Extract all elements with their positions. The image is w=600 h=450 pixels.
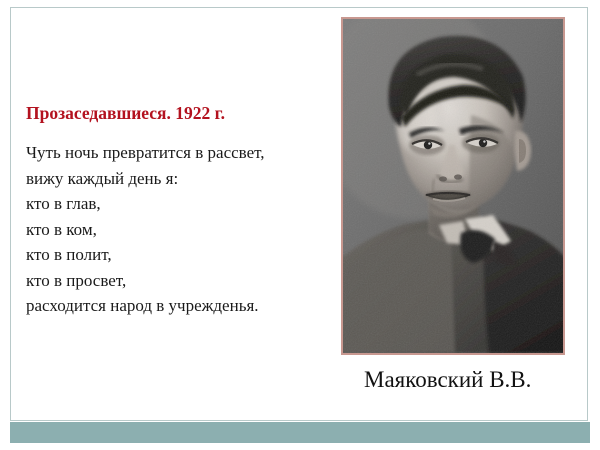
- portrait-photo-image: [343, 19, 563, 353]
- poem-line: кто в просвет,: [26, 268, 331, 294]
- bottom-accent-bar: [10, 422, 590, 443]
- poem-line: кто в ком,: [26, 217, 331, 243]
- poem-line: расходится народ в учрежденья.: [26, 293, 331, 319]
- poem-line: Чуть ночь превратится в рассвет,: [26, 140, 331, 166]
- poem-line: кто в глав,: [26, 191, 331, 217]
- poem-body: Чуть ночь превратится в рассвет, вижу ка…: [26, 140, 331, 319]
- poem-title: Прозаседавшиеся. 1922 г.: [26, 104, 331, 123]
- author-attribution: Маяковский В.В.: [364, 367, 531, 392]
- poem-line: вижу каждый день я:: [26, 166, 331, 192]
- text-content-column: Прозаседавшиеся. 1922 г. Чуть ночь превр…: [26, 104, 331, 319]
- presentation-slide: Прозаседавшиеся. 1922 г. Чуть ночь превр…: [0, 0, 600, 450]
- portrait-photo: [341, 17, 565, 355]
- poem-line: кто в полит,: [26, 242, 331, 268]
